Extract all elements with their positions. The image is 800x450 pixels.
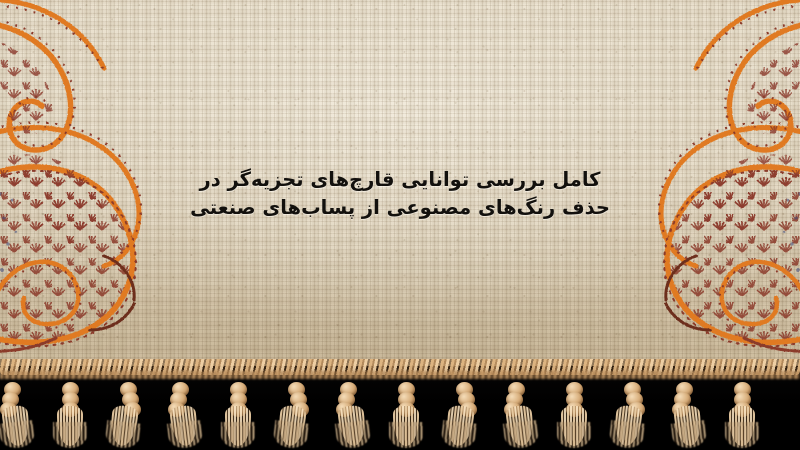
tassel-skirt <box>613 405 643 448</box>
tassel <box>167 362 197 442</box>
tassel-skirt <box>729 406 755 446</box>
tassel <box>447 362 477 442</box>
tassel <box>727 362 757 442</box>
tassel <box>615 362 645 442</box>
tassel <box>223 362 253 442</box>
tassel-skirt <box>169 405 199 448</box>
tassel <box>111 362 141 442</box>
tassel-skirt <box>57 406 83 446</box>
tassel <box>559 362 589 442</box>
page-title: کامل بررسی توانایی قارچ‌های تجزیه‌گر در … <box>0 166 800 221</box>
tassel <box>55 362 85 442</box>
tassel <box>391 362 421 442</box>
tassel-skirt <box>673 405 703 448</box>
tassel-skirt <box>1 405 31 448</box>
tassel-skirt <box>393 406 419 446</box>
tassel-skirt <box>109 405 139 448</box>
tassel <box>503 362 533 442</box>
tassel <box>279 362 309 442</box>
tassel <box>335 362 365 442</box>
tassel-skirt <box>337 405 367 448</box>
tassel-skirt <box>445 405 475 448</box>
tassel <box>0 362 29 442</box>
title-line-1: کامل بررسی توانایی قارچ‌های تجزیه‌گر در <box>0 166 800 194</box>
tassel-skirt <box>277 405 307 448</box>
title-line-2: حذف رنگ‌های مصنوعی از پساب‌های صنعتی <box>0 194 800 222</box>
tassel <box>671 362 701 442</box>
tassel-skirt <box>225 406 251 446</box>
title-card: کامل بررسی توانایی قارچ‌های تجزیه‌گر در … <box>0 0 800 450</box>
tassel-skirt <box>561 406 587 446</box>
tassel-skirt <box>505 405 535 448</box>
